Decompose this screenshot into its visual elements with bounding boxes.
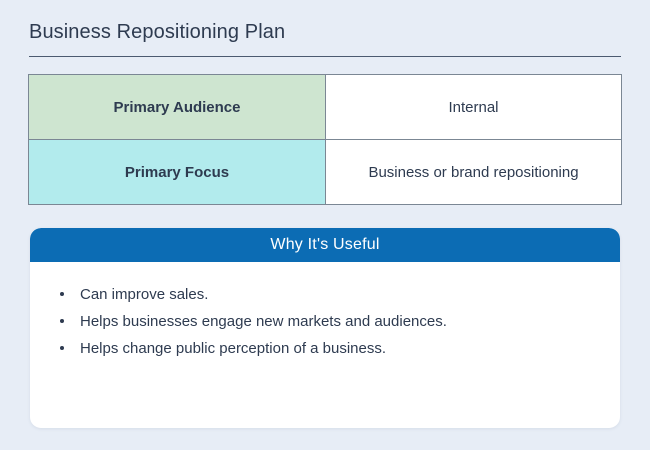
why-its-useful-header: Why It's Useful <box>30 228 620 262</box>
bullet-icon <box>60 292 64 296</box>
why-its-useful-card: Why It's Useful Can improve sales. Helps… <box>30 228 620 428</box>
list-item: Can improve sales. <box>54 282 596 307</box>
bullet-icon <box>60 319 64 323</box>
list-item-label: Helps businesses engage new markets and … <box>80 313 447 330</box>
why-its-useful-body: Can improve sales. Helps businesses enga… <box>30 262 620 361</box>
table-row-value-primary-focus: Business or brand repositioning <box>326 140 622 205</box>
table-row: Primary Focus Business or brand repositi… <box>29 140 622 205</box>
document-page: Business Repositioning Plan Primary Audi… <box>0 0 650 450</box>
title-divider <box>29 56 621 57</box>
list-item-label: Can improve sales. <box>80 286 208 303</box>
bullet-icon <box>60 346 64 350</box>
table-row-label-primary-focus: Primary Focus <box>29 140 326 205</box>
list-item-label: Helps change public perception of a busi… <box>80 340 386 357</box>
table-row-value-primary-audience: Internal <box>326 75 622 140</box>
list-item: Helps change public perception of a busi… <box>54 336 596 361</box>
list-item: Helps businesses engage new markets and … <box>54 309 596 334</box>
table-row: Primary Audience Internal <box>29 75 622 140</box>
attributes-table: Primary Audience Internal Primary Focus … <box>28 74 622 205</box>
page-title: Business Repositioning Plan <box>29 19 285 45</box>
why-its-useful-header-label: Why It's Useful <box>270 236 379 254</box>
benefit-list: Can improve sales. Helps businesses enga… <box>54 282 596 361</box>
table-row-label-primary-audience: Primary Audience <box>29 75 326 140</box>
